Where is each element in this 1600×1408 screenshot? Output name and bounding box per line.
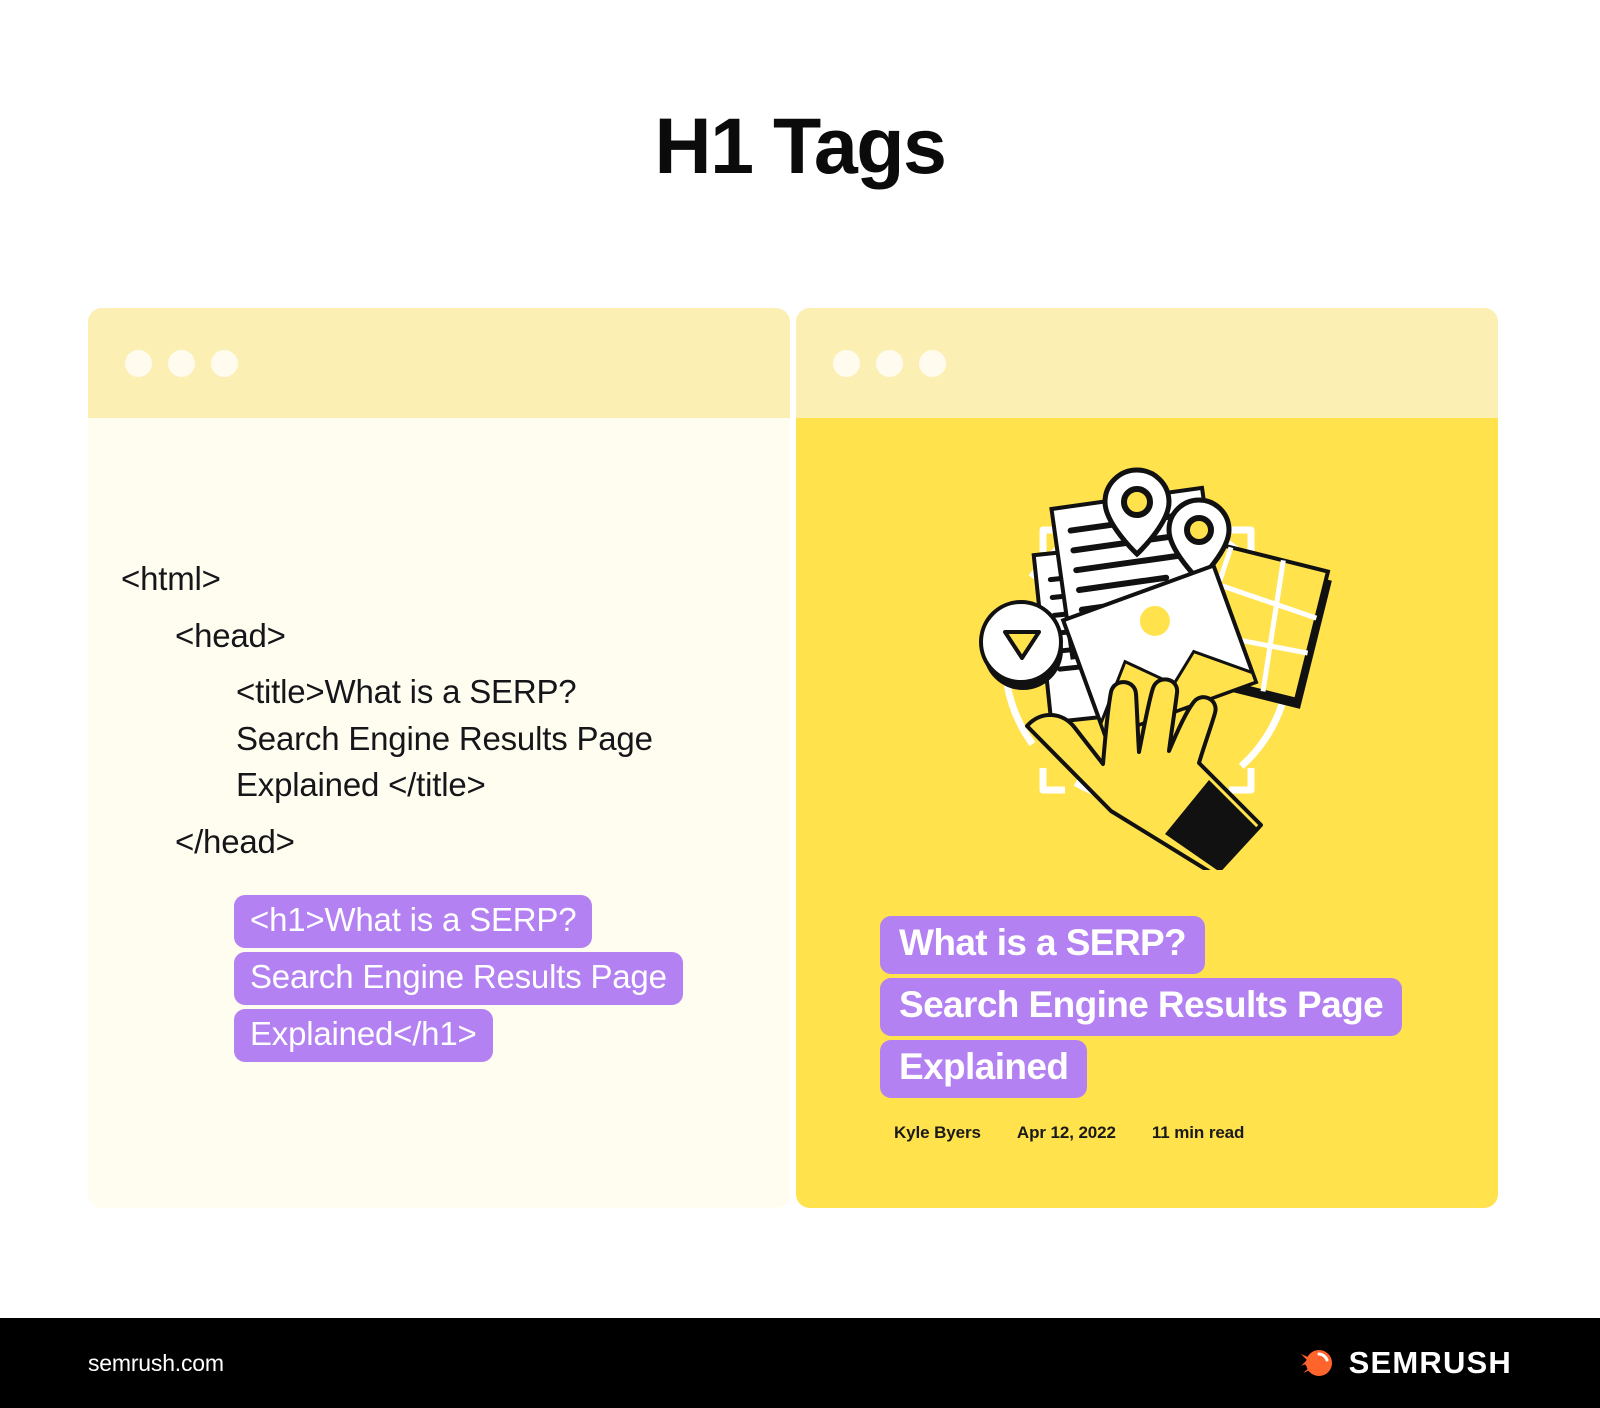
semrush-logo[interactable]: SEMRUSH [1289,1345,1512,1381]
code-line-html-open: <html> [121,556,790,603]
html-code-block: <html> <head> <title>What is a SERP? Sea… [88,418,790,1208]
right-window-titlebar [796,308,1498,418]
code-line-title-3: Explained </title> [236,762,790,809]
footer-url[interactable]: semrush.com [88,1350,224,1377]
window-minimize-dot-icon[interactable] [168,350,195,377]
code-line-head-close: </head> [175,819,790,866]
article-headline: What is a SERP? Search Engine Results Pa… [880,916,1402,1098]
code-browser-window: <html> <head> <title>What is a SERP? Sea… [88,308,790,1208]
semrush-comet-icon [1289,1346,1335,1380]
window-close-dot-icon[interactable] [833,350,860,377]
page-title: H1 Tags [0,106,1600,185]
semrush-wordmark: SEMRUSH [1349,1345,1512,1381]
headline-line-1: What is a SERP? [880,916,1205,974]
hand-holding-search-results-icon [947,450,1347,870]
article-byline: Kyle Byers Apr 12, 2022 11 min read [894,1123,1244,1143]
code-line-title-2: Search Engine Results Page [236,716,790,763]
code-line-head-open: <head> [175,613,790,660]
window-maximize-dot-icon[interactable] [211,350,238,377]
byline-author: Kyle Byers [894,1123,981,1143]
code-line-title-1: <title>What is a SERP? [236,669,790,716]
headline-line-2: Search Engine Results Page [880,978,1402,1036]
headline-line-3: Explained [880,1040,1087,1098]
h1-highlight-line-1: <h1>What is a SERP? [234,895,592,948]
article-browser-window: What is a SERP? Search Engine Results Pa… [796,308,1498,1208]
highlighted-h1-code: <h1>What is a SERP? Search Engine Result… [234,895,790,1062]
window-minimize-dot-icon[interactable] [876,350,903,377]
h1-highlight-line-3: Explained</h1> [234,1009,493,1062]
infographic-page: H1 Tags <html> <head> <title>What is a S… [0,0,1600,1408]
footer-bar: semrush.com SEMRUSH [0,1318,1600,1408]
byline-date: Apr 12, 2022 [1017,1123,1116,1143]
h1-highlight-line-2: Search Engine Results Page [234,952,683,1005]
window-maximize-dot-icon[interactable] [919,350,946,377]
window-close-dot-icon[interactable] [125,350,152,377]
byline-read-time: 11 min read [1152,1123,1244,1143]
left-window-titlebar [88,308,790,418]
article-hero-illustration [796,450,1498,870]
